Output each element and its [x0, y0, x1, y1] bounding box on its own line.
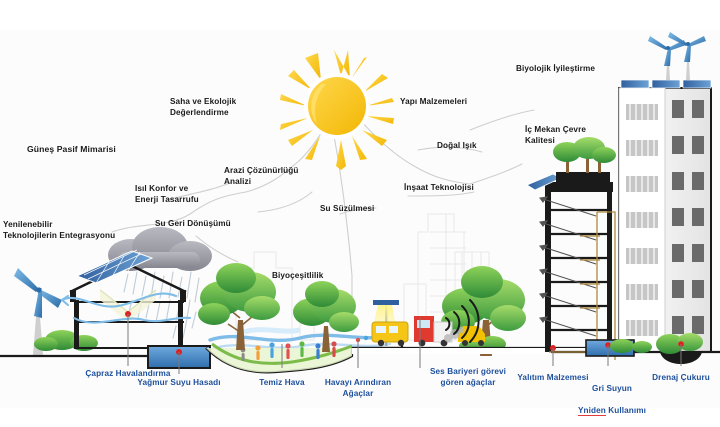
wind-turbine-icon	[648, 32, 706, 80]
airflow-arrows	[62, 294, 190, 323]
label-ic-mekan-cevre-kalitesi: İç Mekan Çevre Kalitesi	[525, 124, 586, 146]
label-yenilenebilir-teknolojiler: Yenilenebilir Teknolojilerin Entegrasyon…	[3, 219, 115, 241]
label-su-suzulmesi: Su Süzülmesi	[320, 203, 374, 214]
label-yapi-malzemeleri: Yapı Malzemeleri	[400, 96, 467, 107]
label-gri-suyun-line1: Gri Suyun	[592, 384, 632, 393]
label-gri-suyun-misspelled: Yniden	[578, 406, 606, 416]
label-gunes-pasif-mimarisi: Güneş Pasif Mimarisi	[27, 144, 116, 155]
label-biyocesitlilik: Biyoçeşitlilik	[272, 270, 323, 281]
label-ses-bariyeri: Ses Bariyeri görevi gören ağaçlar	[420, 366, 516, 388]
wind-turbine-icon	[14, 268, 98, 355]
label-su-geri-donusumu: Su Geri Dönüşümü	[155, 218, 231, 229]
label-arazi-cozunurlugu: Arazi Çözünürlüğü Analizi	[224, 165, 298, 187]
solar-panel-icon	[621, 80, 711, 88]
label-dogal-isik: Doğal Işık	[437, 140, 477, 151]
label-insaat-teknolojisi: İnşaat Teknolojisi	[404, 182, 474, 193]
label-saha-ve-ekolojik: Saha ve Ekolojik Değerlendirme	[170, 96, 236, 118]
label-havayi-arindiran: Havayı Arındıran Ağaçlar	[312, 377, 404, 399]
drainage-pit	[656, 333, 703, 364]
multistory-building-section	[527, 137, 616, 360]
label-gri-suyun-line2b: Kullanımı	[606, 406, 646, 415]
label-yagmur-suyu-hasadi: Yağmur Suyu Hasadı	[119, 377, 239, 388]
label-gri-suyun: Gri Suyun Yniden Kullanımı	[574, 372, 650, 416]
infographic-canvas: Güneş Pasif Mimarisi Saha ve Ekolojik De…	[0, 0, 720, 427]
label-biyolojik-iyilestirme: Biyolojik İyileştirme	[516, 63, 595, 74]
label-drenaj-cukuru: Drenaj Çukuru	[641, 372, 720, 383]
bus-icon	[372, 322, 408, 346]
apartment-tower	[619, 32, 711, 352]
label-isil-konfor: Isıl Konfor ve Enerji Tasarrufu	[135, 183, 199, 205]
